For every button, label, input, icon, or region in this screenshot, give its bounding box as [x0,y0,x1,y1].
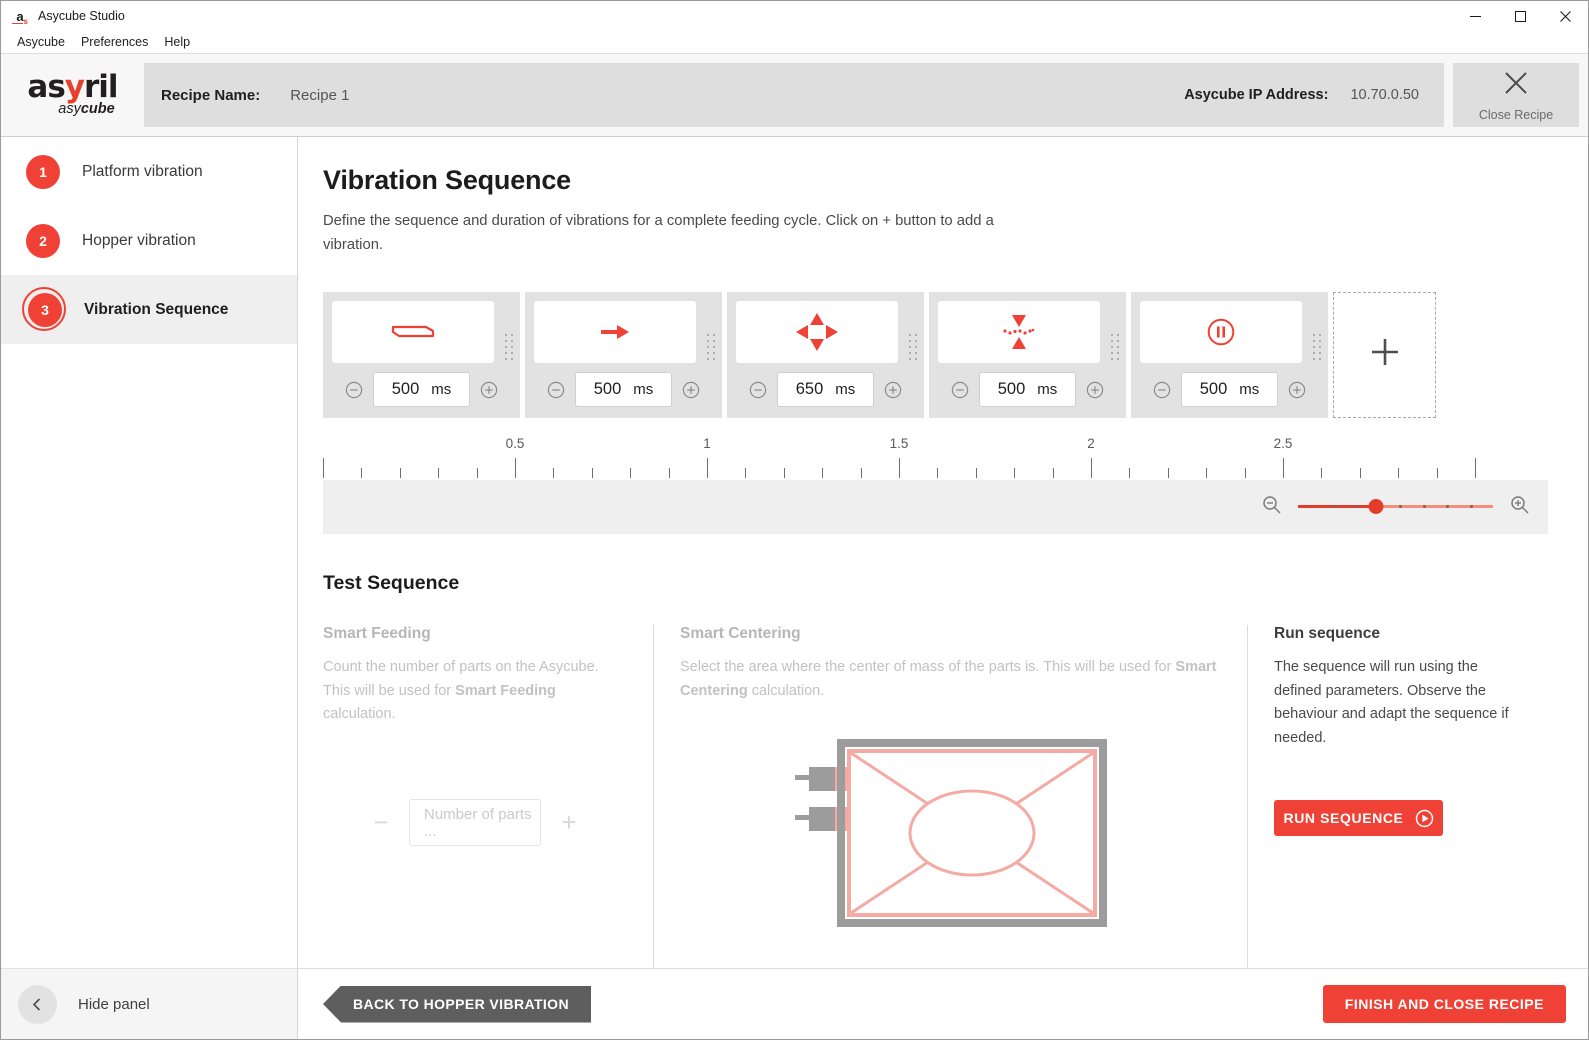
window-title: Asycube Studio [38,9,125,23]
ruler-tick-minor [976,468,977,478]
ruler-tick-minor [592,468,593,478]
ruler-tick-minor [1014,468,1015,478]
arrow-right-icon [534,301,696,363]
minus-circle-icon[interactable] [1153,381,1171,399]
minus-circle-icon[interactable] [951,381,969,399]
close-icon[interactable] [1543,1,1588,31]
plus-icon [1368,335,1402,374]
sequence-card[interactable]: 500 ms [929,292,1126,418]
close-recipe-x-icon [1501,68,1531,103]
ruler-tick-minor [1398,468,1399,478]
duration-value: 500 [998,380,1026,399]
run-sequence-label: RUN SEQUENCE [1284,810,1404,826]
sequence-card[interactable]: 500 ms [1131,292,1328,418]
ruler-tick-minor [784,468,785,478]
page-title: Vibration Sequence [323,165,1548,196]
ruler-tick-minor [861,468,862,478]
ruler-tick-minor [1321,468,1322,478]
drag-handle-icon[interactable] [1111,334,1120,364]
ruler-tick-minor [1129,468,1130,478]
ip-address-label: Asycube IP Address: [1184,87,1328,103]
duration-value: 500 [1200,380,1228,399]
content-area: Vibration Sequence Define the sequence a… [298,137,1588,968]
brand-header: asyril asycube Recipe Name: Recipe 1 Asy… [1,54,1588,137]
test-sequence-columns: Smart Feeding Count the number of parts … [323,625,1548,968]
drag-handle-icon[interactable] [505,334,514,364]
window-controls [1453,1,1588,31]
run-sequence-heading: Run sequence [1274,625,1522,643]
ruler-label: 0.5 [506,436,525,451]
duration-unit: ms [431,381,451,398]
decrement-parts-button[interactable]: − [368,807,394,838]
ruler-tick-minor [630,468,631,478]
close-recipe-button[interactable]: Close Recipe [1453,63,1579,127]
duration-stepper: 500 ms [332,371,511,409]
duration-unit: ms [835,381,855,398]
run-sequence-panel: Run sequence The sequence will run using… [1248,625,1548,968]
ruler-tick-minor [438,468,439,478]
ruler-tick-minor [1360,468,1361,478]
zoom-widget [1261,494,1530,520]
number-of-parts-input[interactable]: Number of parts ... [409,799,541,846]
run-sequence-button[interactable]: RUN SEQUENCE [1274,800,1443,836]
ruler-tick-minor [1245,468,1246,478]
duration-stepper: 500 ms [938,371,1117,409]
asyril-logo: asyril asycube [1,54,144,136]
duration-value: 650 [796,380,824,399]
ruler-tick-minor [1053,468,1054,478]
run-sequence-description: The sequence will run using the defined … [1274,656,1522,751]
main-column: Vibration Sequence Define the sequence a… [298,137,1588,1039]
play-circle-icon [1415,809,1434,828]
sidebar-item-hopper-vibration[interactable]: 2 Hopper vibration [1,206,297,275]
ruler-tick-major [707,458,708,478]
smart-feeding-heading: Smart Feeding [323,625,627,643]
ruler-tick-minor [400,468,401,478]
sidebar-steps: 1 Platform vibration 2 Hopper vibration … [1,137,297,968]
ruler-tick-minor [1206,468,1207,478]
minus-circle-icon[interactable] [749,381,767,399]
zoom-slider-thumb[interactable] [1369,499,1384,514]
ruler-tick-major [1091,458,1092,478]
logo-wordmark: asyril [27,73,117,102]
ip-address-value: 10.70.0.50 [1350,87,1419,103]
drag-handle-icon[interactable] [707,334,716,364]
step-badge-1: 1 [26,155,60,189]
ruler-tick-minor [1437,468,1438,478]
maximize-icon[interactable] [1498,1,1543,31]
ruler-tick-minor [822,468,823,478]
ruler-label: 1.5 [890,436,909,451]
ruler-tick-major [899,458,900,478]
ip-block: Asycube IP Address: 10.70.0.50 [1184,87,1444,103]
minimize-icon[interactable] [1453,1,1498,31]
sidebar-item-platform-vibration[interactable]: 1 Platform vibration [1,137,297,206]
ruler-tick-minor [361,468,362,478]
ruler-label: 2 [1087,436,1095,451]
increment-parts-button[interactable]: + [556,807,582,838]
recipe-name-value: Recipe 1 [290,87,349,104]
add-vibration-button[interactable] [1333,292,1436,418]
sequence-card[interactable]: 500 ms [525,292,722,418]
hide-panel-label: Hide panel [78,996,150,1013]
menu-item-asycube[interactable]: Asycube [9,33,73,51]
zoom-in-icon[interactable] [1509,494,1530,520]
title-bar: a s Asycube Studio [1,1,1588,31]
menu-item-preferences[interactable]: Preferences [73,33,156,51]
app-window: a s Asycube Studio Asycube Preferences H… [0,0,1589,1040]
plus-circle-icon[interactable] [1288,381,1306,399]
sequence-card[interactable]: 650 ms [727,292,924,418]
ruler-tick-minor [669,468,670,478]
duration-unit: ms [1037,381,1057,398]
four-arrows-centering-icon [736,301,898,363]
asycube-platform-diagram[interactable] [680,725,1221,930]
ruler-label: 1 [703,436,711,451]
sidebar-item-label: Hopper vibration [82,232,196,250]
flip-platform-icon [332,301,494,363]
step-badge-3: 3 [28,293,62,327]
ruler-tick-major [515,458,516,478]
minus-circle-icon[interactable] [547,381,565,399]
menu-item-help[interactable]: Help [156,33,198,51]
sidebar-item-vibration-sequence[interactable]: 3 Vibration Sequence [1,275,297,344]
recipe-name-label: Recipe Name: [161,87,260,104]
ruler-labels: 0.511.522.5 [323,436,1475,456]
duration-stepper: 500 ms [1140,371,1319,409]
sidebar-item-label: Vibration Sequence [84,301,228,319]
ruler-tick-minor [553,468,554,478]
ruler-tick-major [1283,458,1284,478]
duration-input[interactable]: 650 ms [777,372,874,407]
sequence-card[interactable]: 500 ms [323,292,520,418]
menu-bar: Asycube Preferences Help [1,31,1588,54]
parts-stepper: − Number of parts ... + [323,799,627,846]
ruler-label: 2.5 [1274,436,1293,451]
converge-dots-icon [938,301,1100,363]
ruler-ticks [323,456,1475,478]
plus-circle-icon[interactable] [1086,381,1104,399]
zoom-out-icon[interactable] [1261,494,1282,520]
ruler-tick-major [323,458,324,478]
plus-circle-icon[interactable] [480,381,498,399]
vibration-sequence-cards: 500 ms [323,292,1548,418]
drag-handle-icon[interactable] [909,334,918,364]
timeline-track[interactable] [323,480,1548,534]
duration-unit: ms [633,381,653,398]
duration-input[interactable]: 500 ms [373,372,470,407]
duration-value: 500 [594,380,622,399]
chevron-left-icon [18,985,57,1024]
sidebar-item-label: Platform vibration [82,163,203,181]
ruler-tick-minor [1168,468,1169,478]
smart-feeding-panel: Smart Feeding Count the number of parts … [323,625,653,968]
footer-bar: BACK TO HOPPER VIBRATION FINISH AND CLOS… [298,968,1588,1039]
step-badge-2: 2 [26,224,60,258]
duration-input[interactable]: 500 ms [979,372,1076,407]
plus-circle-icon[interactable] [884,381,902,399]
ruler-tick-major [1475,458,1476,478]
ruler-tick-minor [477,468,478,478]
duration-stepper: 650 ms [736,371,915,409]
close-recipe-label: Close Recipe [1479,108,1553,122]
drag-handle-icon[interactable] [1313,334,1322,364]
page-description: Define the sequence and duration of vibr… [323,210,1003,258]
finish-and-close-recipe-button[interactable]: FINISH AND CLOSE RECIPE [1323,985,1566,1023]
smart-centering-panel: Smart Centering Select the area where th… [653,625,1248,968]
duration-unit: ms [1239,381,1259,398]
ruler-tick-minor [745,468,746,478]
zoom-slider[interactable] [1298,497,1493,517]
test-sequence-title: Test Sequence [323,572,1548,595]
duration-stepper: 500 ms [534,371,713,409]
duration-input[interactable]: 500 ms [575,372,672,407]
recipe-bar: Recipe Name: Recipe 1 Asycube IP Address… [144,63,1444,127]
duration-value: 500 [392,380,420,399]
smart-centering-description: Select the area where the center of mass… [680,656,1221,704]
hide-panel-button[interactable]: Hide panel [1,968,297,1039]
ruler-tick-minor [937,468,938,478]
duration-input[interactable]: 500 ms [1181,372,1278,407]
smart-feeding-description: Count the number of parts on the Asycube… [323,656,627,727]
timeline-ruler: 0.511.522.5 [323,436,1548,478]
app-icon: a s [11,7,29,25]
plus-circle-icon[interactable] [682,381,700,399]
smart-centering-heading: Smart Centering [680,625,1221,643]
pause-circle-icon [1140,301,1302,363]
sidebar: 1 Platform vibration 2 Hopper vibration … [1,137,298,1039]
minus-circle-icon[interactable] [345,381,363,399]
back-to-hopper-vibration-button[interactable]: BACK TO HOPPER VIBRATION [323,986,591,1023]
